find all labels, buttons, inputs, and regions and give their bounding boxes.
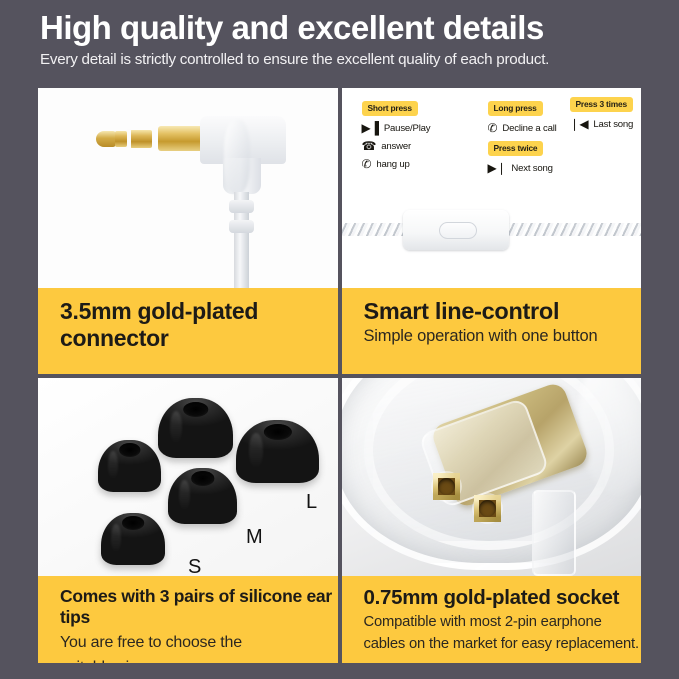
phone-ringing-icon: ☎: [362, 140, 377, 152]
play-pause-icon: ▶▐: [362, 122, 379, 134]
callout-row-hang-up: ✆ hang up: [362, 158, 431, 170]
feature-panel-line-control: Short press ▶▐ Pause/Play ☎ answer ✆ han…: [342, 88, 642, 374]
socket-pin-hole-1: [433, 473, 460, 500]
feature-panel-ear-tips: L M S Comes with 3 pairs of silicone ear…: [38, 378, 338, 664]
ear-tips-caption-sub-line2: suitable size.: [60, 658, 338, 663]
callout-row-decline-call: ✆ Decline a call: [488, 122, 557, 134]
callout-short-press: Short press ▶▐ Pause/Play ☎ answer ✆ han…: [362, 98, 431, 170]
socket-caption-title: 0.75mm gold-plated socket: [364, 586, 642, 610]
connector-caption-title-line2: connector: [60, 325, 338, 352]
plug-pin-tip-icon: [96, 131, 116, 147]
feature-grid: 3.5mm gold-plated connector Short press …: [38, 88, 641, 663]
connector-caption: 3.5mm gold-plated connector: [38, 288, 338, 374]
page-header: High quality and excellent details Every…: [0, 0, 679, 68]
callout-long-press: Long press ✆ Decline a call: [488, 98, 557, 134]
feature-panel-socket: 0.75mm gold-plated socket Compatible wit…: [342, 378, 642, 664]
ear-tip-size-label-large: L: [306, 491, 317, 514]
callout-label-decline-call: Decline a call: [502, 123, 556, 134]
callout-row-answer: ☎ answer: [362, 140, 431, 152]
connector-caption-title: 3.5mm gold-plated: [60, 298, 338, 325]
callout-row-last-song: ❘◀ Last song: [570, 118, 634, 130]
callout-label-hang-up: hang up: [376, 159, 409, 170]
badge-press-3-times: Press 3 times: [570, 97, 633, 112]
phone-decline-icon: ✆: [488, 122, 498, 134]
line-control-photo: Short press ▶▐ Pause/Play ☎ answer ✆ han…: [342, 88, 642, 288]
ear-tips-photo: L M S: [38, 378, 338, 576]
plug-pin-gap-2: [127, 129, 131, 148]
plug-highlight: [224, 120, 250, 194]
feature-panel-connector: 3.5mm gold-plated connector: [38, 88, 338, 374]
remote-button-icon: [439, 222, 477, 239]
line-control-caption: Smart line-control Simple operation with…: [342, 288, 642, 374]
socket-caption-sub-line2: cables on the market for easy replacemen…: [364, 635, 642, 654]
callout-row-next-song: ▶❘ Next song: [488, 162, 553, 174]
callout-press-twice: Press twice ▶❘ Next song: [488, 138, 553, 174]
plug-pin-segment-2: [115, 131, 127, 147]
line-control-caption-title: Smart line-control: [364, 298, 642, 325]
phone-handset-icon: ✆: [362, 158, 372, 170]
socket-caption-sub: Compatible with most 2-pin earphone: [364, 613, 642, 632]
socket-caption: 0.75mm gold-plated socket Compatible wit…: [342, 576, 642, 664]
page-title: High quality and excellent details: [40, 10, 679, 47]
plug-strain-relief-2: [229, 220, 254, 233]
ear-tips-caption: Comes with 3 pairs of silicone ear tips …: [38, 576, 338, 664]
plug-strain-relief-1: [229, 200, 254, 213]
socket-photo: [342, 378, 642, 576]
ear-tip-size-label-medium: M: [246, 526, 263, 549]
callout-label-pause-play: Pause/Play: [384, 123, 431, 134]
badge-long-press: Long press: [488, 101, 543, 116]
ear-tip-size-label-small: S: [188, 556, 201, 576]
plug-pin-gap-1: [152, 128, 156, 149]
connector-photo-background: [38, 88, 338, 288]
callout-label-next-song: Next song: [511, 163, 552, 174]
next-song-icon: ▶❘: [488, 162, 507, 174]
shell-nozzle-stem: [532, 490, 576, 576]
callout-label-answer: answer: [381, 141, 411, 152]
callout-row-pause-play: ▶▐ Pause/Play: [362, 122, 431, 134]
plug-pin-base: [158, 126, 206, 151]
callout-label-last-song: Last song: [593, 119, 633, 130]
badge-short-press: Short press: [362, 101, 418, 116]
plug-pin-segment-1: [130, 130, 152, 148]
socket-pin-hole-2: [474, 495, 501, 522]
ear-tips-caption-title: Comes with 3 pairs of silicone ear tips: [60, 586, 338, 628]
connector-photo: [38, 88, 338, 288]
last-song-icon: ❘◀: [570, 118, 589, 130]
page-subtitle: Every detail is strictly controlled to e…: [40, 51, 679, 68]
callout-press-3-times: Press 3 times ❘◀ Last song: [570, 94, 634, 130]
line-control-caption-sub: Simple operation with one button: [364, 327, 642, 346]
ear-tips-caption-sub: You are free to choose the: [60, 633, 338, 653]
badge-press-twice: Press twice: [488, 141, 544, 156]
